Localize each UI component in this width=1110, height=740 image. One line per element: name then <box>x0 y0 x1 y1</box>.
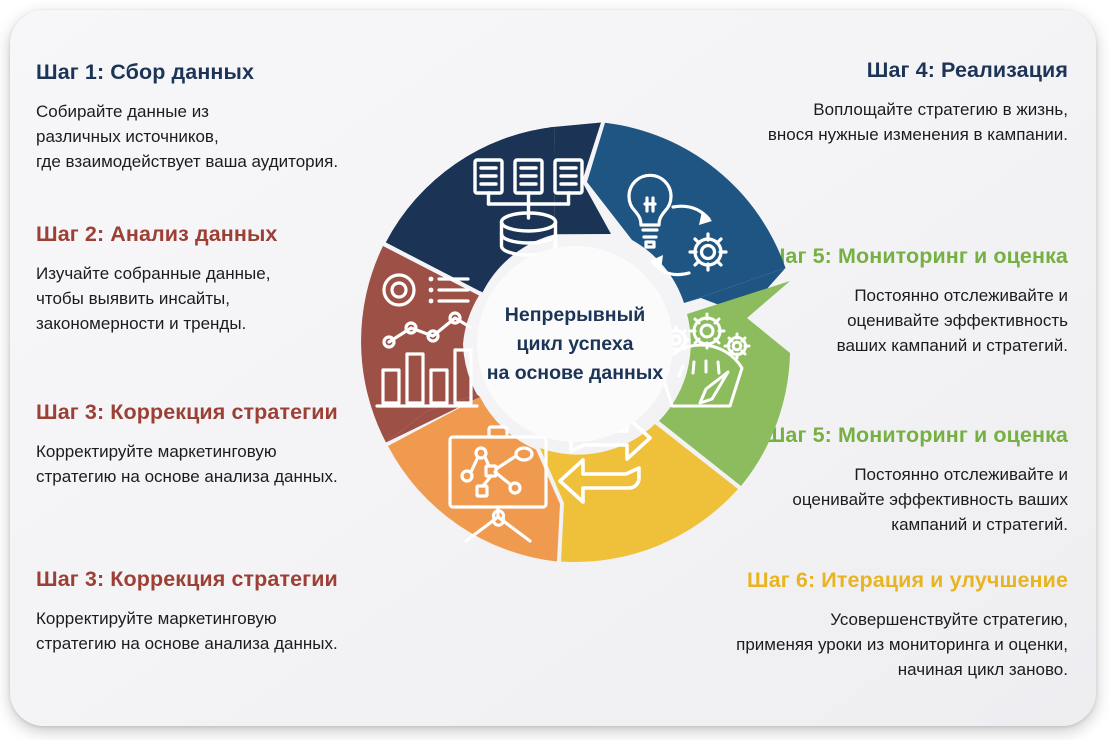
body-line: Корректируйте маркетинговую <box>36 439 338 464</box>
body-line: Корректируйте маркетинговую <box>36 606 338 631</box>
body-step-1: Собирайте данные из различных источников… <box>36 99 338 174</box>
hub-text: Непрерывный цикл успеха на основе данных <box>481 301 670 388</box>
heading-step-4: Шаг 4: Реализация <box>648 58 1068 83</box>
infographic-card: Шаг 1: Сбор данных Собирайте данные из р… <box>10 10 1096 726</box>
body-line: Собирайте данные из <box>36 99 338 124</box>
body-step-2: Изучайте собранные данные, чтобы выявить… <box>36 261 277 336</box>
body-line: стратегию на основе анализа данных. <box>36 464 338 489</box>
text-block-step-6: Шаг 6: Итерация и улучшение Усовершенств… <box>628 568 1068 682</box>
body-line: где взаимодействует ваша аудитория. <box>36 149 338 174</box>
hub-line-1: Непрерывный <box>487 301 664 330</box>
heading-step-3: Шаг 3: Коррекция стратегии <box>36 400 338 425</box>
text-block-step-3-repeat: Шаг 3: Коррекция стратегии Корректируйте… <box>36 567 338 656</box>
heading-step-1: Шаг 1: Сбор данных <box>36 60 338 85</box>
wheel-hub: Непрерывный цикл успеха на основе данных <box>477 246 673 442</box>
body-step-3: Корректируйте маркетинговую стратегию на… <box>36 439 338 489</box>
heading-step-6: Шаг 6: Итерация и улучшение <box>628 568 1068 593</box>
hub-line-3: на основе данных <box>487 359 664 388</box>
text-block-step-1: Шаг 1: Сбор данных Собирайте данные из р… <box>36 60 338 174</box>
text-block-step-2: Шаг 2: Анализ данных Изучайте собранные … <box>36 222 277 336</box>
body-line: различных источников, <box>36 124 338 149</box>
body-step-6: Усовершенствуйте стратегию, применяя уро… <box>628 607 1068 682</box>
text-block-step-3: Шаг 3: Коррекция стратегии Корректируйте… <box>36 400 338 489</box>
body-line: Усовершенствуйте стратегию, <box>628 607 1068 632</box>
cycle-wheel-diagram: Непрерывный цикл успеха на основе данных <box>349 118 801 570</box>
heading-step-3-repeat: Шаг 3: Коррекция стратегии <box>36 567 338 592</box>
body-line: Изучайте собранные данные, <box>36 261 277 286</box>
body-line: чтобы выявить инсайты, <box>36 286 277 311</box>
body-line: начиная цикл заново. <box>628 657 1068 682</box>
body-line: закономерности и тренды. <box>36 311 277 336</box>
body-step-3-repeat: Корректируйте маркетинговую стратегию на… <box>36 606 338 656</box>
body-line: применяя уроки из мониторинга и оценки, <box>628 632 1068 657</box>
heading-step-2: Шаг 2: Анализ данных <box>36 222 277 247</box>
body-line: стратегию на основе анализа данных. <box>36 631 338 656</box>
hub-line-2: цикл успеха <box>487 330 664 359</box>
infographic-canvas: Шаг 1: Сбор данных Собирайте данные из р… <box>0 0 1110 740</box>
